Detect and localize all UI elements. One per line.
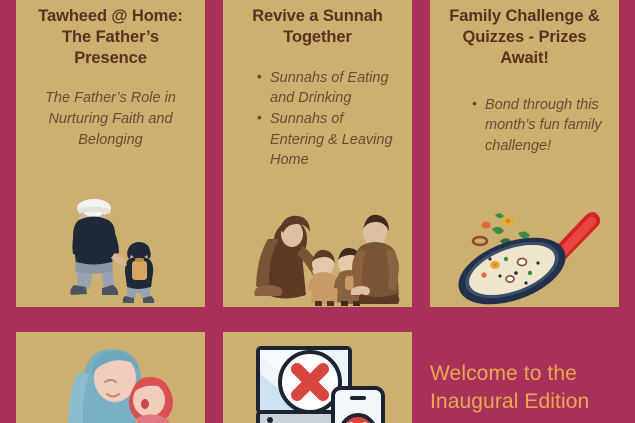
- card-bullet-list: Sunnahs of Eating and Drinking Sunnahs o…: [235, 68, 400, 171]
- card-subtitle: The Father’s Role in Nurturing Faith and…: [28, 88, 193, 151]
- newsletter-page: Tawheed @ Home: The Father’s Presence Th…: [0, 0, 635, 423]
- card-title: Revive a Sunnah Together: [235, 6, 400, 48]
- welcome-heading: Welcome to the Inaugural Edition: [430, 360, 635, 416]
- card-title: Family Challenge & Quizzes - Prizes Awai…: [442, 6, 607, 69]
- card-body: Revive a Sunnah Together Sunnahs of Eati…: [223, 0, 412, 307]
- monitor-and-phone-blocked-illustration: [223, 332, 412, 423]
- father-and-child-walking-illustration: [28, 195, 193, 307]
- card-mother-and-baby[interactable]: [16, 332, 205, 423]
- card-bullet-list: Bond through this month’s fun family cha…: [442, 95, 607, 157]
- card-body: Family Challenge & Quizzes - Prizes Awai…: [430, 0, 619, 307]
- card-screen-free[interactable]: [223, 332, 412, 423]
- mother-holding-baby-illustration: [16, 332, 205, 423]
- list-item: Sunnahs of Entering & Leaving Home: [255, 109, 400, 171]
- card-body: Tawheed @ Home: The Father’s Presence Th…: [16, 0, 205, 307]
- welcome-line-2: Inaugural Edition: [430, 388, 635, 416]
- card-tawheed-at-home[interactable]: Tawheed @ Home: The Father’s Presence Th…: [16, 0, 205, 307]
- card-revive-a-sunnah[interactable]: Revive a Sunnah Together Sunnahs of Eati…: [223, 0, 412, 307]
- card-title: Tawheed @ Home: The Father’s Presence: [28, 6, 193, 69]
- list-item: Sunnahs of Eating and Drinking: [255, 68, 400, 109]
- muslim-family-sitting-illustration: [235, 202, 400, 307]
- welcome-line-1: Welcome to the: [430, 360, 635, 388]
- frying-pan-with-food-illustration: [442, 199, 607, 307]
- card-family-challenge[interactable]: Family Challenge & Quizzes - Prizes Awai…: [430, 0, 619, 307]
- list-item: Bond through this month’s fun family cha…: [470, 95, 607, 157]
